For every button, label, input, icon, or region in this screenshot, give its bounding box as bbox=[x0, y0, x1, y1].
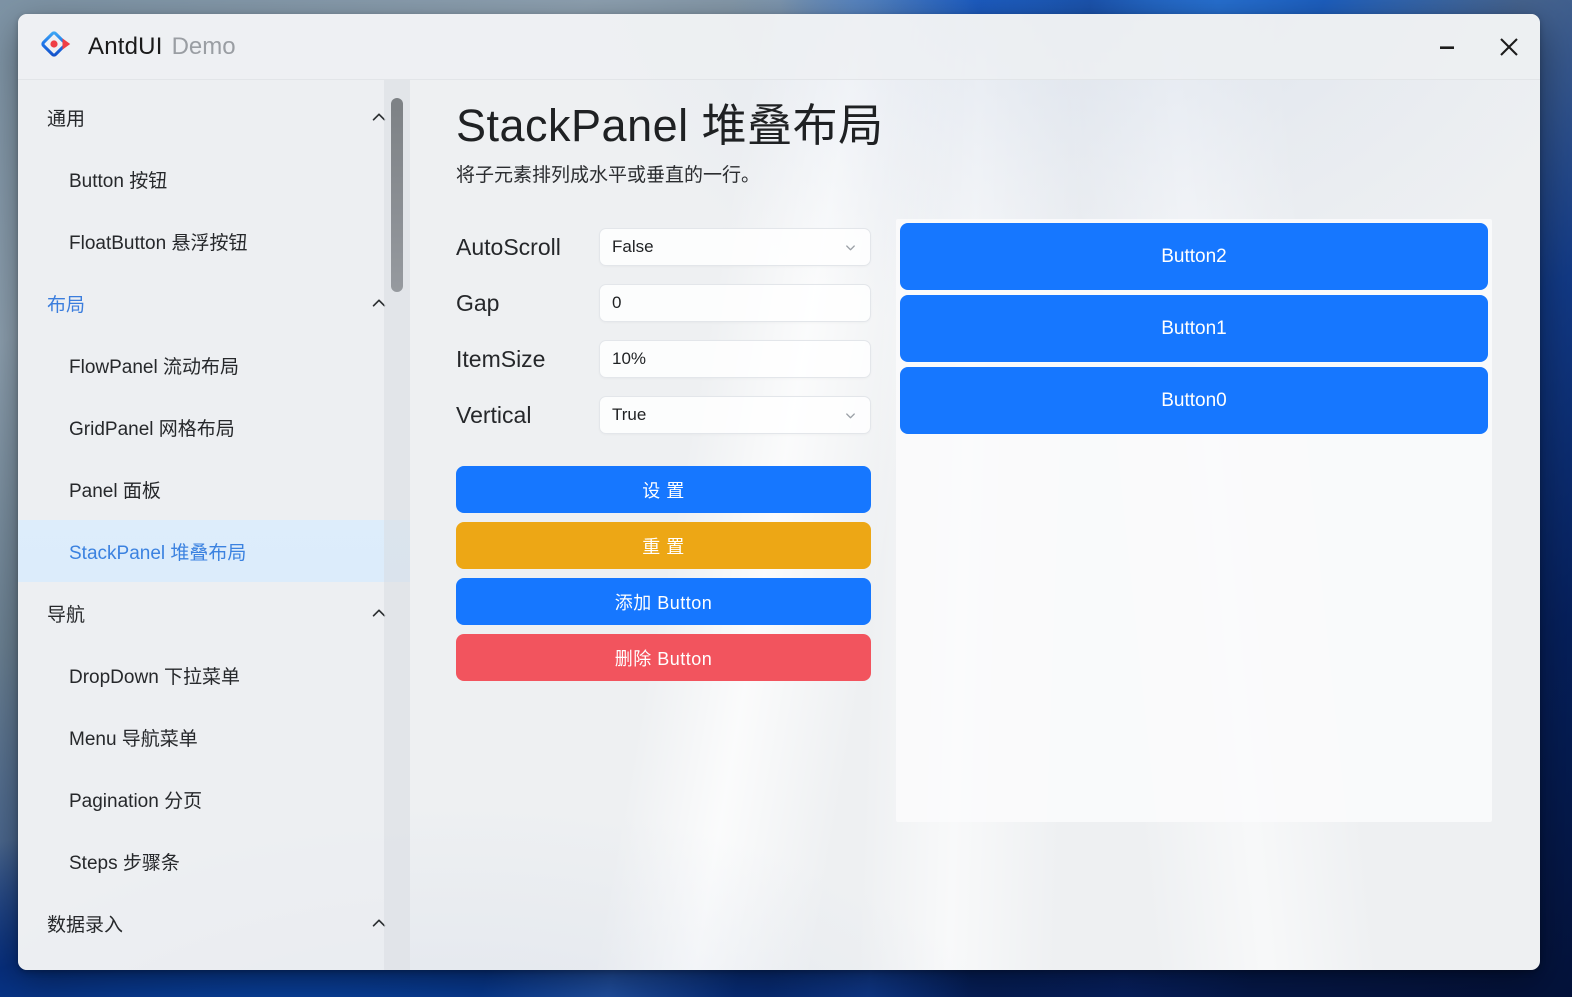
sidebar-item-0-1[interactable]: FloatButton 悬浮按钮 bbox=[18, 210, 410, 272]
sidebar-item-1-2[interactable]: Panel 面板 bbox=[18, 458, 410, 520]
sidebar-group-label: 导航 bbox=[47, 600, 85, 627]
sidebar-item-label: Button 按钮 bbox=[69, 166, 167, 193]
sidebar-item-label: FlowPanel 流动布局 bbox=[69, 352, 239, 379]
sidebar-group-3[interactable]: 数据录入 bbox=[18, 892, 410, 954]
stackpanel-preview: Button2Button1Button0 bbox=[896, 219, 1492, 822]
sidebar-nav: 通用Button 按钮FloatButton 悬浮按钮布局FlowPanel 流… bbox=[18, 80, 410, 954]
field-row-autoscroll: AutoScrollFalse bbox=[456, 219, 871, 275]
field-value: False bbox=[612, 237, 654, 257]
sidebar-item-label: Pagination 分页 bbox=[69, 786, 202, 813]
chevron-down-icon[interactable] bbox=[843, 240, 858, 255]
content-row: AutoScrollFalseGap0ItemSize10%VerticalTr… bbox=[456, 219, 1492, 822]
reset-button[interactable]: 重 置 bbox=[456, 522, 871, 569]
sidebar-item-1-0[interactable]: FlowPanel 流动布局 bbox=[18, 334, 410, 396]
sidebar: 通用Button 按钮FloatButton 悬浮按钮布局FlowPanel 流… bbox=[18, 80, 410, 970]
app-name: AntdUI bbox=[88, 33, 163, 61]
sidebar-item-2-0[interactable]: DropDown 下拉菜单 bbox=[18, 644, 410, 706]
sidebar-item-label: Panel 面板 bbox=[69, 476, 161, 503]
sidebar-item-label: FloatButton 悬浮按钮 bbox=[69, 228, 247, 255]
field-value: True bbox=[612, 405, 646, 425]
action-button-list: 设 置重 置添加 Button删除 Button bbox=[456, 466, 871, 681]
window-body: 通用Button 按钮FloatButton 悬浮按钮布局FlowPanel 流… bbox=[18, 80, 1540, 970]
sidebar-group-label: 数据录入 bbox=[47, 910, 123, 937]
field-value: 10% bbox=[612, 349, 646, 369]
sidebar-group-label: 通用 bbox=[47, 104, 85, 131]
sidebar-item-2-1[interactable]: Menu 导航菜单 bbox=[18, 706, 410, 768]
add-button-button[interactable]: 添加 Button bbox=[456, 578, 871, 625]
preview-button-1[interactable]: Button1 bbox=[900, 295, 1488, 362]
field-label-vertical: Vertical bbox=[456, 402, 599, 429]
sidebar-group-1[interactable]: 布局 bbox=[18, 272, 410, 334]
field-row-itemsize: ItemSize10% bbox=[456, 331, 871, 387]
chevron-down-icon[interactable] bbox=[843, 408, 858, 423]
sidebar-item-2-3[interactable]: Steps 步骤条 bbox=[18, 830, 410, 892]
field-row-vertical: VerticalTrue bbox=[456, 387, 871, 443]
app-subtitle: Demo bbox=[172, 33, 236, 61]
sidebar-scrollbar-thumb[interactable] bbox=[391, 98, 403, 292]
sidebar-item-label: StackPanel 堆叠布局 bbox=[69, 538, 246, 565]
sidebar-group-0[interactable]: 通用 bbox=[18, 86, 410, 148]
select-vertical[interactable]: True bbox=[599, 396, 871, 434]
field-value: 0 bbox=[612, 293, 621, 313]
sidebar-item-2-2[interactable]: Pagination 分页 bbox=[18, 768, 410, 830]
sidebar-item-1-1[interactable]: GridPanel 网格布局 bbox=[18, 396, 410, 458]
preview-button-0[interactable]: Button2 bbox=[900, 223, 1488, 290]
sidebar-group-label: 布局 bbox=[47, 290, 85, 317]
input-gap[interactable]: 0 bbox=[599, 284, 871, 322]
settings-button[interactable]: 设 置 bbox=[456, 466, 871, 513]
sidebar-item-label: Steps 步骤条 bbox=[69, 848, 180, 875]
page-description: 将子元素排列成水平或垂直的一行。 bbox=[456, 160, 1492, 187]
antdui-diamond-logo-icon bbox=[40, 30, 74, 64]
app-window: AntdUI Demo 通用Button 按钮FloatButton 悬浮按钮布… bbox=[18, 14, 1540, 970]
sidebar-item-0-0[interactable]: Button 按钮 bbox=[18, 148, 410, 210]
page-title: StackPanel 堆叠布局 bbox=[456, 98, 1492, 154]
title-bar[interactable]: AntdUI Demo bbox=[18, 14, 1540, 80]
window-controls bbox=[1416, 14, 1540, 79]
sidebar-item-1-3[interactable]: StackPanel 堆叠布局 bbox=[18, 520, 410, 582]
select-autoscroll[interactable]: False bbox=[599, 228, 871, 266]
sidebar-item-label: DropDown 下拉菜单 bbox=[69, 662, 240, 689]
field-label-gap: Gap bbox=[456, 290, 599, 317]
field-label-autoscroll: AutoScroll bbox=[456, 234, 599, 261]
minimize-button[interactable] bbox=[1416, 14, 1478, 79]
input-itemsize[interactable]: 10% bbox=[599, 340, 871, 378]
field-label-itemsize: ItemSize bbox=[456, 346, 599, 373]
delete-button-button[interactable]: 删除 Button bbox=[456, 634, 871, 681]
sidebar-group-2[interactable]: 导航 bbox=[18, 582, 410, 644]
sidebar-scrollbar-track[interactable] bbox=[384, 80, 410, 970]
preview-button-2[interactable]: Button0 bbox=[900, 367, 1488, 434]
settings-form: AutoScrollFalseGap0ItemSize10%VerticalTr… bbox=[456, 219, 871, 822]
close-button[interactable] bbox=[1478, 14, 1540, 79]
sidebar-item-label: Menu 导航菜单 bbox=[69, 724, 198, 751]
field-row-gap: Gap0 bbox=[456, 275, 871, 331]
sidebar-item-label: GridPanel 网格布局 bbox=[69, 414, 235, 441]
main-content: StackPanel 堆叠布局 将子元素排列成水平或垂直的一行。 AutoScr… bbox=[410, 80, 1540, 970]
field-list: AutoScrollFalseGap0ItemSize10%VerticalTr… bbox=[456, 219, 871, 443]
